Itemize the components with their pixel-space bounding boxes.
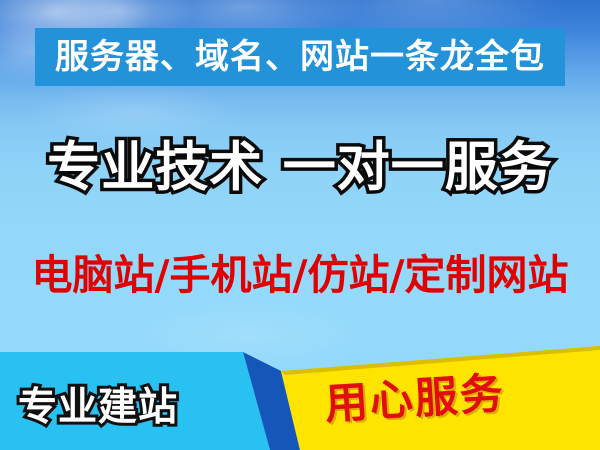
- headline-bar: 服务器、域名、网站一条龙全包: [35, 28, 565, 86]
- headline-bar-text: 服务器、域名、网站一条龙全包: [35, 40, 565, 74]
- cloud-wisp-icon: [30, 84, 240, 140]
- promo-banner: 服务器、域名、网站一条龙全包 专业技术 一对一服务 电脑站/手机站/仿站/定制网…: [0, 0, 600, 450]
- services-list-text: 电脑站/手机站/仿站/定制网站: [0, 253, 600, 298]
- ribbon-left-label: 专业建站: [18, 388, 178, 427]
- bottom-ribbon: 专业建站 用心服务: [0, 340, 600, 450]
- main-headline: 专业技术 一对一服务: [0, 139, 600, 197]
- ribbon-right-label: 用心服务: [324, 373, 506, 427]
